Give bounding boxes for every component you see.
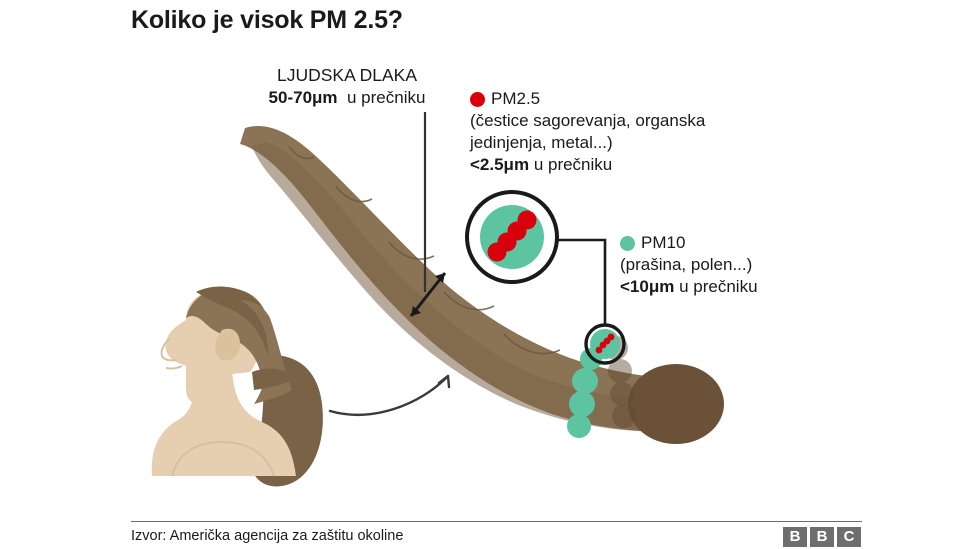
legend-pm10-description-1: (prašina, polen...) [620,254,758,276]
legend-pm10-size-suffix: u prečniku [679,277,757,296]
legend-pm25-size-value: <2.5μm [470,155,529,174]
bbc-logo-letter-2: B [810,527,834,547]
infographic-canvas: Koliko je visok PM 2.5? [0,0,976,549]
footer-divider [131,521,862,522]
hair-label-size-value: 50-70μm [269,88,338,107]
legend-pm10-label: PM10 [641,232,685,254]
particle-highlight-circle [586,325,624,363]
magnifier-leader-line [556,240,605,325]
legend-pm10: PM10 (prašina, polen...) <10μm u prečnik… [620,232,758,298]
legend-pm10-head: PM10 [620,232,758,254]
hair-label-name: LJUDSKA DLAKA [247,64,447,86]
hair-label: LJUDSKA DLAKA 50-70μm u prečniku [247,64,447,109]
legend-pm25-head: PM2.5 [470,88,705,110]
bbc-logo: B B C [783,527,861,547]
pm10-color-swatch [620,236,635,251]
legend-pm25-description-1: (čestice sagorevanja, organska [470,110,705,132]
hair-label-size: 50-70μm u prečniku [247,87,447,109]
illustration-graphic [0,0,976,549]
legend-pm25-size-suffix: u prečniku [534,155,612,174]
legend-pm25: PM2.5 (čestice sagorevanja, organska jed… [470,88,705,176]
bbc-logo-letter-3: C [837,527,861,547]
pm25-color-swatch [470,92,485,107]
human-head-figure [152,287,323,487]
bbc-logo-letter-1: B [783,527,807,547]
legend-pm25-label: PM2.5 [491,88,540,110]
legend-pm25-description-2: jedinjenja, metal...) [470,132,705,154]
legend-pm25-size: <2.5μm u prečniku [470,154,705,176]
magnified-particle-view [467,192,557,282]
legend-pm10-size: <10μm u prečniku [620,276,758,298]
source-attribution: Izvor: Američka agencija za zaštitu okol… [131,528,403,544]
hair-label-size-suffix: u prečniku [347,88,425,107]
legend-pm10-size-value: <10μm [620,277,674,296]
pointer-arrow-curved [330,376,449,415]
